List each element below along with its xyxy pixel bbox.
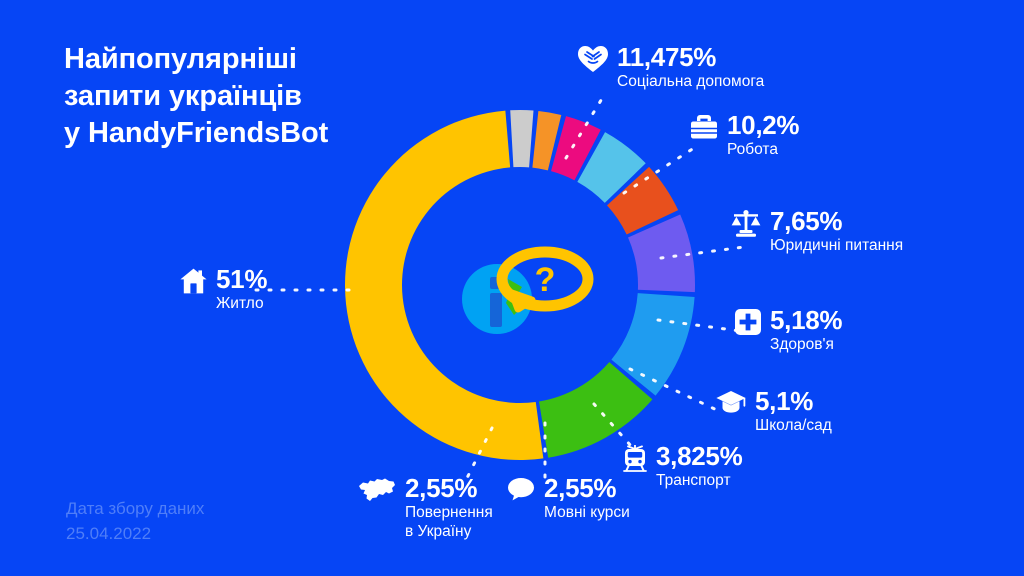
donut-slice[interactable] [510, 110, 533, 167]
ukraine-map-icon [356, 477, 396, 503]
callout-value: 5,1% [755, 388, 832, 415]
callout-job[interactable]: 10,2% Робота [690, 112, 799, 160]
callout-text: 2,55% Мовні курси [544, 475, 630, 523]
callout-health[interactable]: 5,18% Здоров'я [735, 307, 842, 355]
medical-cross-icon [735, 309, 761, 335]
callout-value: 51% [216, 266, 267, 293]
callout-text: 11,475% Соціальна допомога [617, 44, 764, 92]
handyfriendsbot-logo: ? [462, 252, 588, 334]
callout-value: 7,65% [770, 208, 903, 235]
callout-value: 11,475% [617, 44, 764, 71]
callout-label: Юридичні питання [770, 237, 903, 256]
callout-school[interactable]: 5,1% Школа/сад [716, 388, 832, 436]
donut-chart: ? [330, 95, 710, 475]
data-collection-note: Дата збору даних 25.04.2022 [66, 497, 366, 546]
callout-text: 5,1% Школа/сад [755, 388, 832, 436]
house-icon [180, 268, 207, 294]
callout-label: Повернення в Україну [405, 504, 493, 542]
scales-icon [731, 210, 761, 238]
callout-text: 7,65% Юридичні питання [770, 208, 903, 256]
callout-label: Робота [727, 141, 799, 160]
callout-housing[interactable]: 51% Житло [180, 266, 267, 314]
speech-bubble-icon [508, 477, 535, 501]
tram-icon [623, 445, 647, 472]
callout-transport[interactable]: 3,825% Транспорт [623, 443, 742, 491]
callout-label: Транспорт [656, 472, 742, 491]
logo-question-mark: ? [535, 261, 556, 299]
briefcase-icon [690, 114, 718, 140]
callout-value: 2,55% [544, 475, 630, 502]
callout-text: 2,55% Повернення в Україну [405, 475, 493, 542]
callout-value: 2,55% [405, 475, 493, 502]
heart-hands-icon [578, 46, 608, 73]
callout-text: 5,18% Здоров'я [770, 307, 842, 355]
callout-language-courses[interactable]: 2,55% Мовні курси [508, 475, 630, 523]
callout-text: 51% Житло [216, 266, 267, 314]
callout-label: Здоров'я [770, 336, 842, 355]
callout-label: Житло [216, 295, 267, 314]
donut-svg: ? [330, 95, 710, 475]
callout-label: Школа/сад [755, 417, 832, 436]
callout-label: Соціальна допомога [617, 73, 764, 92]
callout-value: 3,825% [656, 443, 742, 470]
callout-return-to-ukraine[interactable]: 2,55% Повернення в Україну [356, 475, 493, 542]
callout-text: 3,825% Транспорт [656, 443, 742, 491]
callout-label: Мовні курси [544, 504, 630, 523]
infographic-canvas: Найпопулярніші запити українців у HandyF… [0, 0, 1024, 576]
callout-legal[interactable]: 7,65% Юридичні питання [731, 208, 903, 256]
graduation-cap-icon [716, 390, 746, 414]
callout-social-aid[interactable]: 11,475% Соціальна допомога [578, 44, 764, 92]
callout-value: 10,2% [727, 112, 799, 139]
callout-value: 5,18% [770, 307, 842, 334]
callout-text: 10,2% Робота [727, 112, 799, 160]
